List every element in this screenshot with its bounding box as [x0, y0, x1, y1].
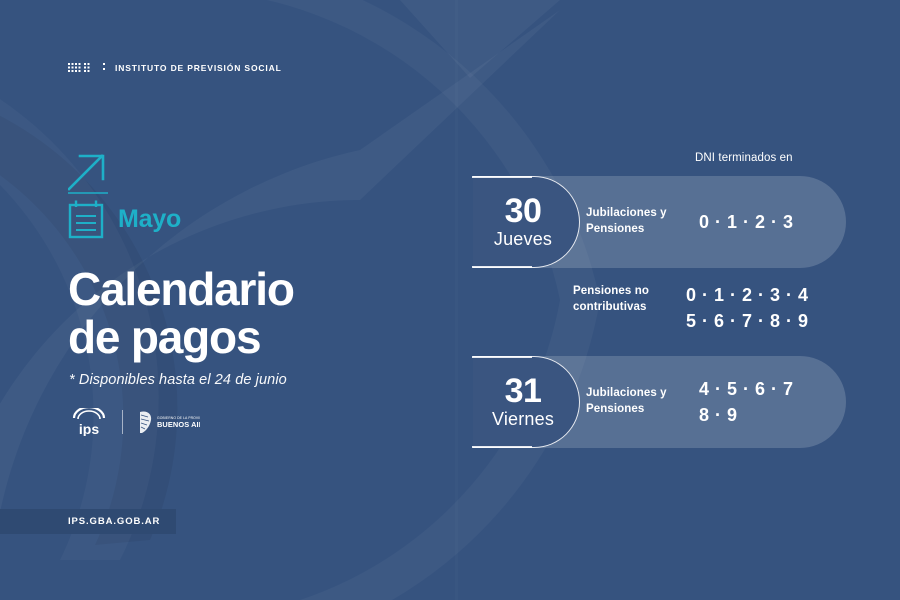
brand-bar: INSTITUTO DE PREVISIÓN SOCIAL	[68, 62, 282, 73]
svg-text:ips: ips	[79, 421, 99, 436]
colon-separator-icon	[103, 62, 106, 73]
benefit-label: Pensiones no contributivas	[573, 282, 678, 316]
dni-digit-line: 4 · 5 · 6 · 7	[699, 376, 794, 402]
page-title: Calendario de pagos	[68, 266, 294, 362]
benefit-label: Jubilaciones y Pensiones	[586, 386, 691, 418]
ips-logo: ips	[69, 408, 109, 436]
availability-note: * Disponibles hasta el 24 de junio	[69, 372, 287, 388]
brand-title: INSTITUTO DE PREVISIÓN SOCIAL	[115, 63, 282, 73]
dni-digits: 0 · 1 · 2 · 3 · 4 5 · 6 · 7 · 8 · 9	[686, 282, 809, 334]
left-panel: INSTITUTO DE PREVISIÓN SOCIAL May	[0, 0, 460, 600]
card-body: Jubilaciones y Pensiones 0 · 1 · 2 · 3	[586, 176, 846, 268]
day-badge-inner: 30 Jueves	[473, 176, 573, 268]
headline-line-2: de pagos	[68, 314, 294, 362]
dni-digits: 4 · 5 · 6 · 7 8 · 9	[699, 376, 794, 428]
day-badge-inner: 31 Viernes	[473, 356, 573, 448]
month-label: Mayo	[118, 205, 181, 234]
calendar-row: Mayo	[68, 199, 181, 239]
dni-column-header: DNI terminados en	[695, 152, 793, 164]
svg-text:BUENOS AIRES: BUENOS AIRES	[157, 420, 200, 429]
right-panel: DNI terminados en 30 Jueves Jubilaciones…	[460, 0, 900, 600]
dni-digits: 0 · 1 · 2 · 3	[699, 209, 794, 235]
dni-digit-line: 0 · 1 · 2 · 3	[699, 209, 794, 235]
day-number: 31	[505, 375, 542, 408]
logo-divider	[122, 410, 123, 434]
calendar-icon	[68, 199, 104, 239]
payment-row-card[interactable]: 31 Viernes Jubilaciones y Pensiones 4 · …	[473, 356, 846, 448]
dni-digit-line: 8 · 9	[699, 402, 794, 428]
card-body: Jubilaciones y Pensiones 4 · 5 · 6 · 7 8…	[586, 356, 846, 448]
day-name: Viernes	[492, 409, 554, 430]
month-block: Mayo	[68, 152, 181, 239]
benefit-label: Jubilaciones y Pensiones	[586, 206, 691, 238]
payment-row-card[interactable]: 30 Jueves Jubilaciones y Pensiones 0 · 1…	[473, 176, 846, 268]
payment-row-plain: Pensiones no contributivas 0 · 1 · 2 · 3…	[573, 282, 873, 334]
dni-digit-line: 5 · 6 · 7 · 8 · 9	[686, 308, 809, 334]
buenos-aires-government-logo: GOBIERNO DE LA PROVINCIA DE BUENOS AIRES	[136, 409, 200, 435]
ips-dot-grid-icon	[68, 62, 94, 73]
day-badge: 31 Viernes	[473, 356, 580, 448]
day-badge: 30 Jueves	[473, 176, 580, 268]
dni-digit-line: 0 · 1 · 2 · 3 · 4	[686, 282, 809, 308]
logo-group: ips GOBIERNO DE LA PROVINCIA DE BUENOS A…	[69, 408, 200, 436]
day-name: Jueves	[494, 229, 552, 250]
day-number: 30	[505, 195, 542, 228]
arrow-up-right-icon	[68, 152, 108, 194]
website-url-badge[interactable]: IPS.GBA.GOB.AR	[0, 509, 176, 534]
headline-line-1: Calendario	[68, 266, 294, 314]
